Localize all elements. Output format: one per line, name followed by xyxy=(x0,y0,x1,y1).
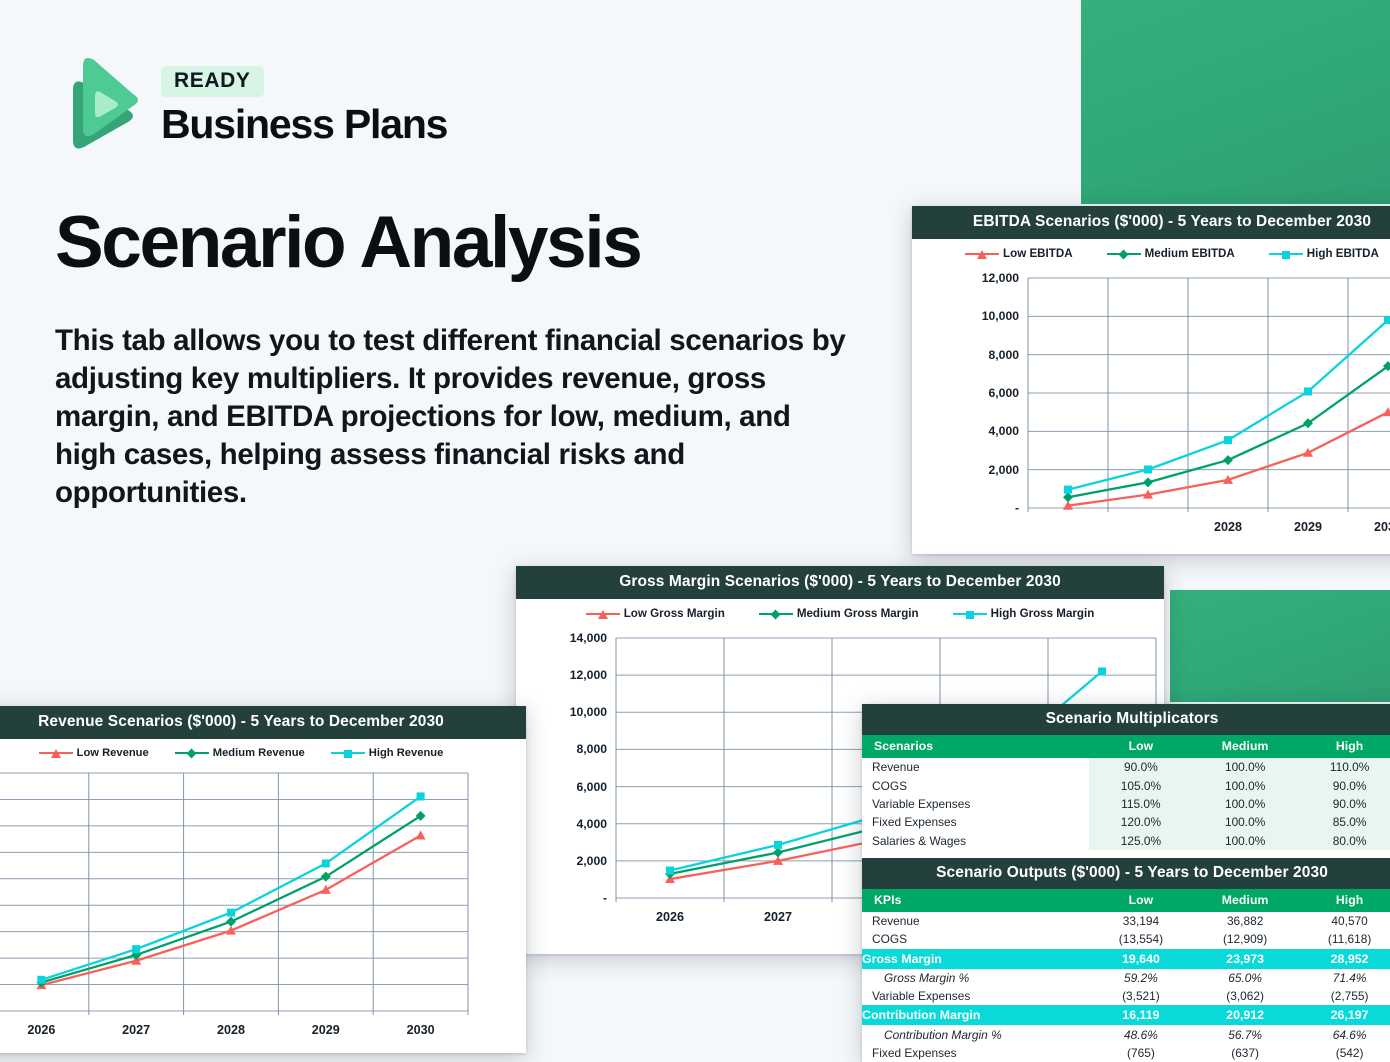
table-row: Revenue33,19436,88240,570 xyxy=(862,912,1390,930)
chart-legend-gross-margin: Low Gross Margin Medium Gross Margin Hig… xyxy=(516,599,1164,624)
play-triangle-logo-icon xyxy=(55,56,139,156)
y-axis-tick: - xyxy=(603,891,607,905)
x-axis-tick: 2030 xyxy=(1374,520,1390,534)
table-gap xyxy=(862,850,1390,858)
x-axis-tick: 2028 xyxy=(1214,520,1242,534)
row-value: (637) xyxy=(1193,1044,1297,1062)
row-value: 80.0% xyxy=(1297,832,1390,850)
table-row: Salaries & Wages125.0%100.0%80.0% xyxy=(862,832,1390,850)
table-row: Variable Expenses115.0%100.0%90.0% xyxy=(862,795,1390,813)
legend-marker-square-icon xyxy=(1269,249,1303,259)
row-value: 23,973 xyxy=(1193,949,1297,969)
row-label: Revenue xyxy=(862,912,1089,930)
scenario-tables-card: Scenario Multiplicators Scenarios Low Me… xyxy=(862,704,1390,1062)
x-axis-tick: 2029 xyxy=(1294,520,1322,534)
y-axis-tick: 10,000 xyxy=(982,309,1019,323)
row-label: Fixed Expenses xyxy=(862,1044,1089,1062)
brand-text: READY Business Plans xyxy=(161,66,447,146)
row-label: Variable Expenses xyxy=(862,795,1089,813)
legend-item-low-gross-margin: Low Gross Margin xyxy=(586,607,725,620)
col-header-medium: Medium xyxy=(1193,735,1297,758)
row-value: 90.0% xyxy=(1297,795,1390,813)
row-value: 20,912 xyxy=(1193,1005,1297,1025)
row-value: 115.0% xyxy=(1089,795,1193,813)
table-header-row: KPIs Low Medium High xyxy=(862,889,1390,912)
chart-title-ebitda: EBITDA Scenarios ($'000) - 5 Years to De… xyxy=(912,206,1390,239)
table-row: Revenue90.0%100.0%110.0% xyxy=(862,758,1390,776)
row-value: 100.0% xyxy=(1193,832,1297,850)
chart-card-ebitda: EBITDA Scenarios ($'000) - 5 Years to De… xyxy=(912,206,1390,554)
x-axis-tick: 2028 xyxy=(217,1023,245,1037)
legend-item-medium-gross-margin: Medium Gross Margin xyxy=(759,607,919,620)
row-value: 110.0% xyxy=(1297,758,1390,776)
row-value: 85.0% xyxy=(1297,813,1390,831)
y-axis-tick: 4,000 xyxy=(989,424,1020,438)
legend-marker-diamond-icon xyxy=(1107,249,1141,259)
row-value: 105.0% xyxy=(1089,776,1193,794)
table-header-row: Scenarios Low Medium High xyxy=(862,735,1390,758)
poster-canvas: READY Business Plans Scenario Analysis T… xyxy=(0,0,1390,1043)
legend-item-high-ebitda: High EBITDA xyxy=(1269,247,1379,260)
legend-marker-triangle-icon xyxy=(965,249,999,259)
row-value: (3,062) xyxy=(1193,987,1297,1005)
table-row: Gross Margin19,64023,97328,952 xyxy=(862,949,1390,969)
outputs-title: Scenario Outputs ($'000) - 5 Years to De… xyxy=(862,858,1390,889)
row-value: 26,197 xyxy=(1297,1005,1390,1025)
row-value: 64.6% xyxy=(1297,1025,1390,1043)
legend-label: Low EBITDA xyxy=(1003,247,1073,260)
decorative-green-block-top xyxy=(1081,0,1390,204)
chart-card-revenue: Revenue Scenarios ($'000) - 5 Years to D… xyxy=(0,706,526,1053)
legend-item-high-revenue: High Revenue xyxy=(331,747,444,759)
table-row: Contribution Margin16,11920,91226,197 xyxy=(862,1005,1390,1025)
y-axis-tick: - xyxy=(1015,501,1019,515)
row-value: 90.0% xyxy=(1297,776,1390,794)
row-label: Gross Margin xyxy=(862,949,1089,969)
row-label: COGS xyxy=(862,776,1089,794)
y-axis-tick: 6,000 xyxy=(577,780,608,794)
table-row: COGS(13,554)(12,909)(11,618) xyxy=(862,930,1390,948)
row-label: Contribution Margin % xyxy=(862,1025,1089,1043)
row-value: 19,640 xyxy=(1089,949,1193,969)
row-value: 48.6% xyxy=(1089,1025,1193,1043)
row-label: Revenue xyxy=(862,758,1089,776)
row-value: 100.0% xyxy=(1193,758,1297,776)
page-description: This tab allows you to test different fi… xyxy=(55,322,855,512)
row-value: (2,755) xyxy=(1297,987,1390,1005)
col-header-scenarios: Scenarios xyxy=(862,735,1089,758)
chart-legend-ebitda: Low EBITDA Medium EBITDA High EBITDA xyxy=(912,239,1390,264)
x-axis-tick: 2030 xyxy=(407,1023,435,1037)
legend-marker-diamond-icon xyxy=(175,748,209,758)
row-value: 100.0% xyxy=(1193,813,1297,831)
row-value: 36,882 xyxy=(1193,912,1297,930)
col-header-high: High xyxy=(1297,735,1390,758)
y-axis-tick: 4,000 xyxy=(577,817,608,831)
y-axis-tick: 12,000 xyxy=(570,668,607,682)
row-value: 40,570 xyxy=(1297,912,1390,930)
multiplicators-table: Scenarios Low Medium High Revenue90.0%10… xyxy=(862,735,1390,850)
table-row: Variable Expenses(3,521)(3,062)(2,755) xyxy=(862,987,1390,1005)
legend-label: Low Gross Margin xyxy=(624,607,725,620)
col-header-low: Low xyxy=(1089,889,1193,912)
decorative-green-block-middle xyxy=(1170,590,1390,702)
row-value: 56.7% xyxy=(1193,1025,1297,1043)
multiplicators-title: Scenario Multiplicators xyxy=(862,704,1390,735)
col-header-medium: Medium xyxy=(1193,889,1297,912)
row-value: 65.0% xyxy=(1193,969,1297,987)
chart-legend-revenue: Low Revenue Medium Revenue High Revenue xyxy=(0,739,526,763)
legend-label: High EBITDA xyxy=(1307,247,1379,260)
row-value: 120.0% xyxy=(1089,813,1193,831)
row-value: 71.4% xyxy=(1297,969,1390,987)
legend-label: Medium Gross Margin xyxy=(797,607,919,620)
row-value: (542) xyxy=(1297,1044,1390,1062)
chart-title-gross-margin: Gross Margin Scenarios ($'000) - 5 Years… xyxy=(516,566,1164,599)
col-header-high: High xyxy=(1297,889,1390,912)
legend-label: Medium Revenue xyxy=(213,747,305,759)
row-value: (13,554) xyxy=(1089,930,1193,948)
legend-marker-triangle-icon xyxy=(39,748,73,758)
legend-label: High Revenue xyxy=(369,747,444,759)
page-title: Scenario Analysis xyxy=(55,206,640,279)
chart-plot-ebitda: -2,0004,0006,0008,00010,00012,0002028202… xyxy=(912,264,1390,554)
row-value: 100.0% xyxy=(1193,795,1297,813)
row-value: (3,521) xyxy=(1089,987,1193,1005)
outputs-table: KPIs Low Medium High Revenue33,19436,882… xyxy=(862,889,1390,1062)
row-label: Contribution Margin xyxy=(862,1005,1089,1025)
table-row: Gross Margin %59.2%65.0%71.4% xyxy=(862,969,1390,987)
x-axis-tick: 2027 xyxy=(764,910,792,924)
chart-plot-revenue: 20262027202820292030 xyxy=(0,763,526,1053)
legend-label: High Gross Margin xyxy=(991,607,1095,620)
col-header-kpis: KPIs xyxy=(862,889,1089,912)
row-value: 90.0% xyxy=(1089,758,1193,776)
row-value: 28,952 xyxy=(1297,949,1390,969)
legend-marker-diamond-icon xyxy=(759,609,793,619)
legend-label: Low Revenue xyxy=(77,747,149,759)
y-axis-tick: 2,000 xyxy=(577,854,608,868)
legend-marker-triangle-icon xyxy=(586,609,620,619)
y-axis-tick: 8,000 xyxy=(577,742,608,756)
y-axis-tick: 10,000 xyxy=(570,705,607,719)
table-row: COGS105.0%100.0%90.0% xyxy=(862,776,1390,794)
legend-item-medium-ebitda: Medium EBITDA xyxy=(1107,247,1235,260)
row-label: Salaries & Wages xyxy=(862,832,1089,850)
legend-item-medium-revenue: Medium Revenue xyxy=(175,747,305,759)
y-axis-tick: 12,000 xyxy=(982,271,1019,285)
row-value: 125.0% xyxy=(1089,832,1193,850)
y-axis-tick: 6,000 xyxy=(989,386,1020,400)
legend-marker-square-icon xyxy=(331,748,365,758)
x-axis-tick: 2027 xyxy=(122,1023,150,1037)
x-axis-tick: 2029 xyxy=(312,1023,340,1037)
legend-marker-square-icon xyxy=(953,609,987,619)
row-value: (765) xyxy=(1089,1044,1193,1062)
legend-item-low-revenue: Low Revenue xyxy=(39,747,149,759)
row-value: 33,194 xyxy=(1089,912,1193,930)
y-axis-tick: 2,000 xyxy=(989,463,1020,477)
y-axis-tick: 14,000 xyxy=(570,631,607,645)
col-header-low: Low xyxy=(1089,735,1193,758)
row-value: (11,618) xyxy=(1297,930,1390,948)
ready-badge: READY xyxy=(161,66,264,97)
table-row: Fixed Expenses(765)(637)(542) xyxy=(862,1044,1390,1062)
legend-label: Medium EBITDA xyxy=(1145,247,1235,260)
row-value: 59.2% xyxy=(1089,969,1193,987)
x-axis-tick: 2026 xyxy=(27,1023,55,1037)
x-axis-tick: 2026 xyxy=(656,910,684,924)
table-row: Contribution Margin %48.6%56.7%64.6% xyxy=(862,1025,1390,1043)
row-label: Fixed Expenses xyxy=(862,813,1089,831)
brand-logo: READY Business Plans xyxy=(55,56,447,156)
row-label: COGS xyxy=(862,930,1089,948)
row-value: 100.0% xyxy=(1193,776,1297,794)
row-label: Gross Margin % xyxy=(862,969,1089,987)
brand-name: Business Plans xyxy=(161,103,447,146)
legend-item-low-ebitda: Low EBITDA xyxy=(965,247,1073,260)
y-axis-tick: 8,000 xyxy=(989,348,1020,362)
row-value: 16,119 xyxy=(1089,1005,1193,1025)
table-row: Fixed Expenses120.0%100.0%85.0% xyxy=(862,813,1390,831)
legend-item-high-gross-margin: High Gross Margin xyxy=(953,607,1095,620)
row-label: Variable Expenses xyxy=(862,987,1089,1005)
chart-title-revenue: Revenue Scenarios ($'000) - 5 Years to D… xyxy=(0,706,526,739)
row-value: (12,909) xyxy=(1193,930,1297,948)
